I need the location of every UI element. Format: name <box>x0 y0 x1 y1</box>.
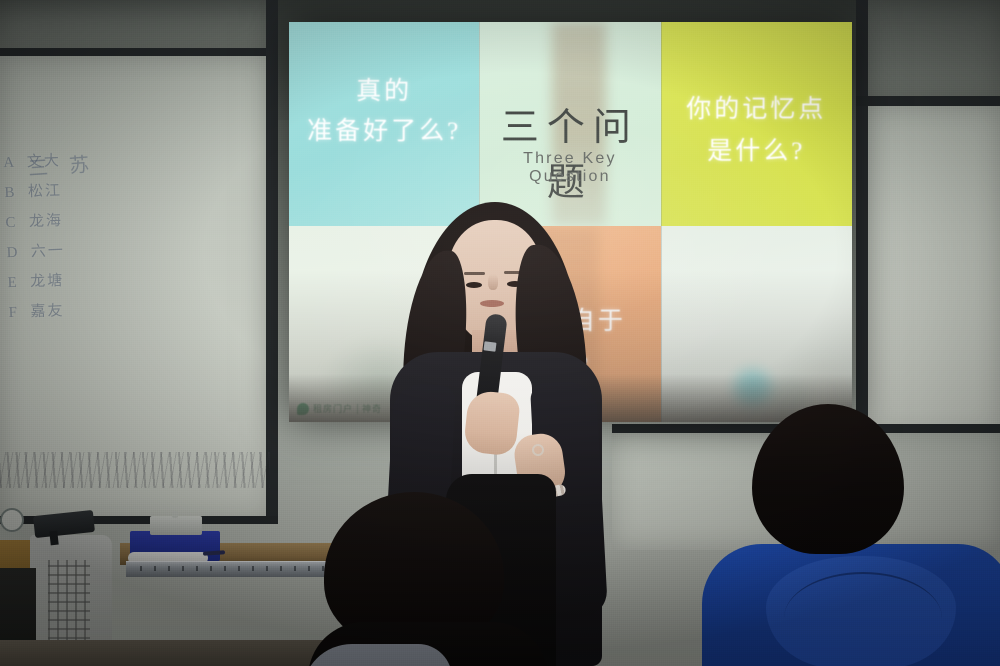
floor <box>0 640 340 666</box>
slide-quadrant-top-right: 你的记忆点 是什么? <box>661 22 852 226</box>
speaker-nose <box>488 274 498 290</box>
speaker-ring <box>532 444 544 456</box>
photo-scene: 三 苏 A 文大 B 松江 C 龙海 D 六一 E 龙塘 F 嘉友 真的 准备好… <box>0 0 1000 666</box>
slide-subtitle: Three Key Question <box>479 150 660 186</box>
slide-text-line: 准备好了么? <box>289 114 479 150</box>
whiteboard-list-line: F 嘉友 <box>8 303 64 321</box>
speaker-mouth <box>480 300 504 307</box>
whiteboard-list: A 文大 B 松江 C 龙海 D 六一 E 龙塘 F 嘉友 <box>3 144 129 328</box>
whiteboard-panel-right <box>866 106 1000 436</box>
slide-text-line: 你的记忆点 <box>661 92 852 128</box>
grey-projector-box <box>150 516 202 535</box>
whiteboard-list-line: D 六一 <box>6 243 65 261</box>
board-frame-top-left <box>0 48 278 56</box>
speaker-eye <box>466 282 482 288</box>
speaker-brow <box>464 272 485 275</box>
slide-seam <box>661 22 662 422</box>
whiteboard-eraser-smudge <box>0 452 270 488</box>
board-frame-top-right <box>856 96 1000 106</box>
whiteboard-list-line: A 文大 <box>3 153 61 171</box>
audience-member-right <box>724 404 1000 666</box>
speaker-hand-holding-mic <box>463 389 521 456</box>
whiteboard-list-line: C 龙海 <box>5 213 63 231</box>
microphone-label <box>483 341 496 351</box>
whiteboard-panel-upper-left <box>0 0 272 50</box>
board-frame-side-left <box>266 0 278 524</box>
monitor-stalk <box>49 531 58 546</box>
whiteboard-panel-upper-right <box>858 0 1000 98</box>
audience-right-head <box>752 404 904 554</box>
audience-member-left <box>318 492 534 666</box>
whiteboard-list-line: E 龙塘 <box>7 273 64 291</box>
jacket-hood-seam <box>784 572 942 664</box>
whiteboard-list-line: B 松江 <box>4 183 62 201</box>
wall-clock-icon <box>0 508 24 532</box>
slide-text-line: 真的 <box>289 74 479 110</box>
slide-text-line: 是什么? <box>661 134 852 170</box>
desk-rail-detail <box>140 566 330 571</box>
projector-knob <box>172 511 178 518</box>
board-frame-side-right <box>856 0 868 440</box>
